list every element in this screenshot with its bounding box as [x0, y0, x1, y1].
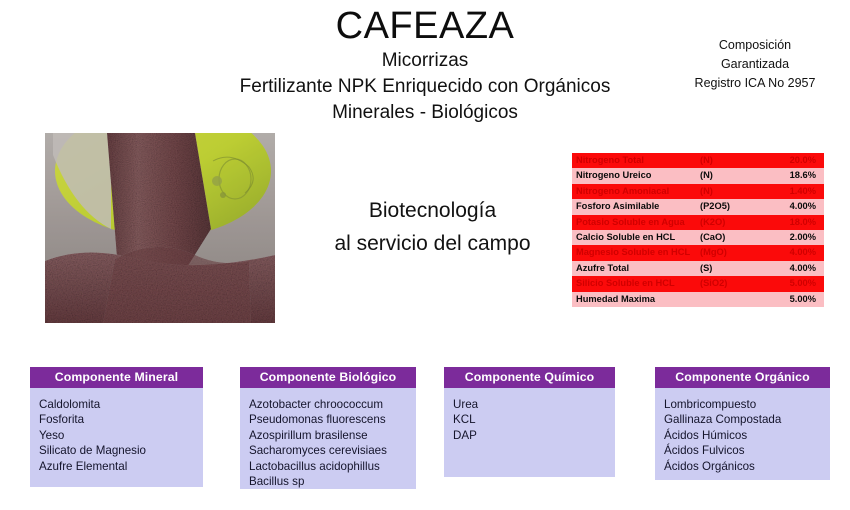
page-title: CAFEAZA	[150, 4, 700, 48]
component-item: Ácidos Fulvicos	[664, 443, 830, 458]
composition-row: Nitrogeno Amoniacal(N)1.40%	[572, 184, 824, 199]
composition-cell-name: Calcio Soluble en HCL	[572, 230, 696, 245]
composition-cell-value: 4.00%	[760, 245, 824, 260]
composition-row: Azufre Total(S)4.00%	[572, 261, 824, 276]
component-box-biologico: Componente Biológico Azotobacter chrooco…	[240, 367, 416, 489]
composition-cell-value: 2.00%	[760, 230, 824, 245]
component-item: Sacharomyces cerevisiaes	[249, 443, 416, 458]
composition-row: Magnesio Soluble en HCL(MgO)4.00%	[572, 245, 824, 260]
composition-row: Silicio Soluble en HCL(SiO2)5.00%	[572, 276, 824, 291]
component-box-organico: Componente Orgánico LombricompuestoGalli…	[655, 367, 830, 480]
composition-row: Nitrogeno Total(N)20.0%	[572, 153, 824, 168]
component-item: Fosforita	[39, 412, 203, 427]
composition-row: Nitrogeno Ureico(N)18.6%	[572, 168, 824, 183]
component-item: Ácidos Orgánicos	[664, 459, 830, 474]
composition-row: Fosforo Asimilable(P2O5)4.00%	[572, 199, 824, 214]
composition-cell-name: Magnesio Soluble en HCL	[572, 245, 696, 260]
composition-cell-value: 5.00%	[760, 276, 824, 291]
composition-cell-name: Silicio Soluble en HCL	[572, 276, 696, 291]
component-item: Bacillus sp	[249, 474, 416, 489]
composition-cell-symbol: (CaO)	[696, 230, 760, 245]
component-item: Gallinaza Compostada	[664, 412, 830, 427]
header-subtitle-2: Fertilizante NPK Enriquecido con Orgánic…	[150, 74, 700, 100]
composition-cell-name: Potasio Soluble en Agua	[572, 215, 696, 230]
component-box-mineral-list: CaldolomitaFosforitaYesoSilicato de Magn…	[30, 388, 203, 480]
component-box-mineral-title: Componente Mineral	[30, 367, 203, 388]
product-photo-image	[45, 133, 275, 323]
slogan-line-2: al servicio del campo	[300, 227, 565, 260]
slogan: Biotecnología al servicio del campo	[300, 194, 565, 260]
header-subtitle-3: Minerales - Biológicos	[150, 100, 700, 126]
component-box-biologico-list: Azotobacter chroococcumPseudomonas fluor…	[240, 388, 416, 495]
composition-cell-symbol: (N)	[696, 184, 760, 199]
registration-note: Composición Garantizada Registro ICA No …	[662, 36, 848, 93]
component-item: Pseudomonas fluorescens	[249, 412, 416, 427]
composition-cell-symbol	[696, 292, 760, 307]
component-item: Lombricompuesto	[664, 397, 830, 412]
component-item: KCL	[453, 412, 615, 427]
registration-line-2: Garantizada	[662, 55, 848, 74]
composition-row: Potasio Soluble en Agua(K2O)18.0%	[572, 215, 824, 230]
composition-cell-symbol: (P2O5)	[696, 199, 760, 214]
component-box-quimico-title: Componente Químico	[444, 367, 615, 388]
component-box-quimico: Componente Químico UreaKCLDAP	[444, 367, 615, 477]
composition-cell-name: Nitrogeno Total	[572, 153, 696, 168]
registration-line-1: Composición	[662, 36, 848, 55]
composition-cell-value: 4.00%	[760, 199, 824, 214]
component-box-organico-title: Componente Orgánico	[655, 367, 830, 388]
composition-row: Humedad Maxima5.00%	[572, 292, 824, 307]
composition-cell-symbol: (SiO2)	[696, 276, 760, 291]
composition-cell-value: 20.0%	[760, 153, 824, 168]
component-box-quimico-list: UreaKCLDAP	[444, 388, 615, 449]
composition-cell-value: 5.00%	[760, 292, 824, 307]
component-box-biologico-title: Componente Biológico	[240, 367, 416, 388]
header-block: CAFEAZA Micorrizas Fertilizante NPK Enri…	[150, 4, 700, 126]
component-box-mineral: Componente Mineral CaldolomitaFosforitaY…	[30, 367, 203, 487]
composition-cell-symbol: (N)	[696, 153, 760, 168]
composition-table-body: Nitrogeno Total(N)20.0%Nitrogeno Ureico(…	[572, 153, 824, 307]
composition-cell-value: 1.40%	[760, 184, 824, 199]
composition-cell-symbol: (MgO)	[696, 245, 760, 260]
composition-cell-name: Fosforo Asimilable	[572, 199, 696, 214]
composition-cell-value: 4.00%	[760, 261, 824, 276]
registration-line-3: Registro ICA No 2957	[662, 74, 848, 93]
composition-table: Nitrogeno Total(N)20.0%Nitrogeno Ureico(…	[572, 153, 824, 307]
header-subtitle-1: Micorrizas	[150, 48, 700, 74]
component-item: Yeso	[39, 428, 203, 443]
composition-cell-name: Nitrogeno Amoniacal	[572, 184, 696, 199]
slogan-line-1: Biotecnología	[300, 194, 565, 227]
composition-cell-value: 18.0%	[760, 215, 824, 230]
component-item: Ácidos Húmicos	[664, 428, 830, 443]
component-item: Caldolomita	[39, 397, 203, 412]
component-item: Lactobacillus acidophillus	[249, 459, 416, 474]
component-box-organico-list: LombricompuestoGallinaza CompostadaÁcido…	[655, 388, 830, 480]
composition-cell-value: 18.6%	[760, 168, 824, 183]
composition-cell-name: Humedad Maxima	[572, 292, 696, 307]
composition-cell-symbol: (S)	[696, 261, 760, 276]
composition-cell-symbol: (N)	[696, 168, 760, 183]
component-item: Azospirillum brasilense	[249, 428, 416, 443]
composition-cell-symbol: (K2O)	[696, 215, 760, 230]
component-item: Silicato de Magnesio	[39, 443, 203, 458]
composition-row: Calcio Soluble en HCL(CaO)2.00%	[572, 230, 824, 245]
product-photo	[45, 133, 275, 323]
composition-cell-name: Azufre Total	[572, 261, 696, 276]
component-item: DAP	[453, 428, 615, 443]
composition-cell-name: Nitrogeno Ureico	[572, 168, 696, 183]
component-item: Azufre Elemental	[39, 459, 203, 474]
component-item: Azotobacter chroococcum	[249, 397, 416, 412]
component-item: Urea	[453, 397, 615, 412]
